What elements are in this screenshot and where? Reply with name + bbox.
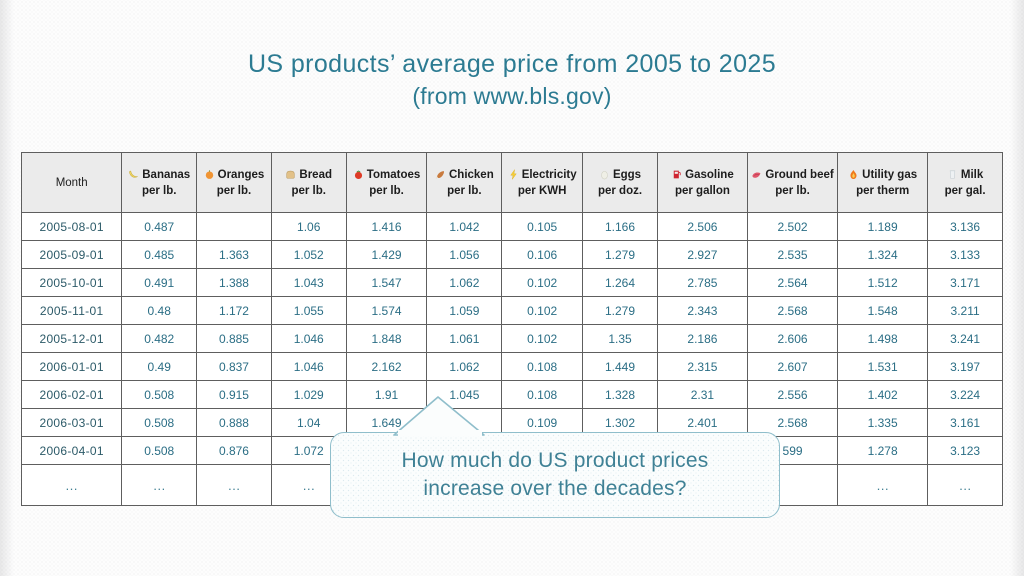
cell-value: 2.31 [657, 381, 747, 409]
cell-value: 2.785 [657, 269, 747, 297]
orange-icon [204, 169, 215, 184]
cell-value: 0.106 [502, 241, 583, 269]
cell-value: 3.136 [928, 213, 1003, 241]
column-header-utility-gas: Utility gasper therm [838, 153, 928, 213]
cell-month: 2006-01-01 [22, 353, 122, 381]
table-row: 2005-11-010.481.1721.0551.5741.0590.1021… [22, 297, 1003, 325]
cell-value: 1.363 [197, 241, 272, 269]
cell-value: 2.535 [747, 241, 837, 269]
cell-value: 3.123 [928, 437, 1003, 465]
column-header-title: Oranges [204, 169, 265, 181]
cell-value: 1.416 [346, 213, 427, 241]
cell-value: 1.029 [271, 381, 346, 409]
column-header-title: Ground beef [751, 169, 833, 181]
cell-value: 1.059 [427, 297, 502, 325]
cell-value: 0.48 [122, 297, 197, 325]
column-header-label: Bananas [142, 169, 190, 181]
title-line-1: US products’ average price from 2005 to … [0, 48, 1024, 80]
column-header-unit: per lb. [125, 184, 193, 198]
gas-pump-icon [671, 169, 682, 184]
callout-line-2: increase over the decades? [423, 477, 686, 500]
cell-value: 0.876 [197, 437, 272, 465]
cell-value: 2.606 [747, 325, 837, 353]
column-header-label: Tomatoes [367, 169, 420, 181]
column-header-unit: per lb. [200, 184, 268, 198]
column-header-title: Chicken [435, 169, 494, 181]
cell-value: 1.848 [346, 325, 427, 353]
table-row: 2005-12-010.4820.8851.0461.8481.0610.102… [22, 325, 1003, 353]
cell-value: 1.055 [271, 297, 346, 325]
column-header-unit: per therm [841, 184, 924, 198]
cell-value: 1.046 [271, 325, 346, 353]
column-header-eggs: Eggsper doz. [583, 153, 658, 213]
cell-value: 0.491 [122, 269, 197, 297]
cell-value: 2.343 [657, 297, 747, 325]
table-header-row: MonthBananasper lb.Orangesper lb.Breadpe… [22, 153, 1003, 213]
column-header-title: Utility gas [848, 169, 917, 181]
cell-value: 1.449 [583, 353, 658, 381]
column-header-bananas: Bananasper lb. [122, 153, 197, 213]
callout-text: How much do US product prices increase o… [402, 447, 709, 503]
callout-line-1: How much do US product prices [402, 449, 709, 472]
column-header-label: Month [56, 177, 88, 189]
cell-value: 2.564 [747, 269, 837, 297]
cell-value: 1.335 [838, 409, 928, 437]
column-header-title: Bananas [128, 169, 190, 181]
column-header-title: Gasoline [671, 169, 734, 181]
ground-beef-icon [751, 169, 762, 184]
column-header-label: Utility gas [862, 169, 917, 181]
cell-value: 0.102 [502, 325, 583, 353]
cell-value: 0.102 [502, 269, 583, 297]
cell-value: 0.508 [122, 381, 197, 409]
callout-bubble: How much do US product prices increase o… [330, 432, 780, 518]
cell-value: 3.197 [928, 353, 1003, 381]
cell-value: 2.315 [657, 353, 747, 381]
cell-value: 1.547 [346, 269, 427, 297]
cell-value: 3.224 [928, 381, 1003, 409]
cell-value: 1.189 [838, 213, 928, 241]
cell-value: 1.043 [271, 269, 346, 297]
bread-icon [285, 169, 296, 184]
cell-value: 2.568 [747, 297, 837, 325]
table-row: 2005-08-010.4871.061.4161.0420.1051.1662… [22, 213, 1003, 241]
column-header-unit: per KWH [505, 184, 579, 198]
cell-value: 1.046 [271, 353, 346, 381]
cell-value: 0.508 [122, 437, 197, 465]
cell-value: 3.133 [928, 241, 1003, 269]
column-header-label: Milk [961, 169, 983, 181]
column-header-unit: per lb. [350, 184, 424, 198]
cell-value: 2.506 [657, 213, 747, 241]
cell-value: 1.04 [271, 409, 346, 437]
cell-value: 1.06 [271, 213, 346, 241]
cell-month: 2005-08-01 [22, 213, 122, 241]
column-header-label: Oranges [218, 169, 265, 181]
milk-glass-icon [947, 169, 958, 184]
column-header-label: Bread [299, 169, 332, 181]
column-header-ground-beef: Ground beefper lb. [747, 153, 837, 213]
cell-value: … [122, 465, 197, 506]
cell-value: 0.485 [122, 241, 197, 269]
cell-month: 2006-02-01 [22, 381, 122, 409]
cell-value: 1.324 [838, 241, 928, 269]
column-header-label: Ground beef [765, 169, 833, 181]
cell-value: 1.574 [346, 297, 427, 325]
column-header-electricity: Electricityper KWH [502, 153, 583, 213]
cell-value: 1.166 [583, 213, 658, 241]
cell-value: 2.556 [747, 381, 837, 409]
slide-title: US products’ average price from 2005 to … [0, 48, 1024, 112]
column-header-unit: per lb. [430, 184, 498, 198]
cell-value: 2.186 [657, 325, 747, 353]
column-header-label: Electricity [522, 169, 577, 181]
cell-value: 0.508 [122, 409, 197, 437]
cell-value: 1.548 [838, 297, 928, 325]
cell-value: 1.172 [197, 297, 272, 325]
lightning-icon [508, 169, 519, 184]
cell-value: 1.328 [583, 381, 658, 409]
column-header-label: Eggs [613, 169, 641, 181]
banana-icon [128, 169, 139, 184]
cell-value: 1.062 [427, 353, 502, 381]
cell-value: 0.105 [502, 213, 583, 241]
cell-value: 1.052 [271, 241, 346, 269]
column-header-title: Electricity [508, 169, 577, 181]
cell-month: 2006-04-01 [22, 437, 122, 465]
cell-month: 2005-09-01 [22, 241, 122, 269]
cell-value: 1.279 [583, 241, 658, 269]
cell-value: 0.49 [122, 353, 197, 381]
cell-month: 2005-10-01 [22, 269, 122, 297]
cell-value: 0.482 [122, 325, 197, 353]
cell-value: 0.837 [197, 353, 272, 381]
column-header-label: Chicken [449, 169, 494, 181]
column-header-unit: per gal. [931, 184, 999, 198]
cell-value: 1.062 [427, 269, 502, 297]
column-header-unit: per lb. [751, 184, 834, 198]
table-row: 2006-02-010.5080.9151.0291.911.0450.1081… [22, 381, 1003, 409]
cell-value: 3.211 [928, 297, 1003, 325]
cell-value: 1.429 [346, 241, 427, 269]
cell-value: 1.264 [583, 269, 658, 297]
table-row: 2006-01-010.490.8371.0462.1621.0620.1081… [22, 353, 1003, 381]
chicken-icon [435, 169, 446, 184]
cell-value: … [838, 465, 928, 506]
cell-value: 0.108 [502, 381, 583, 409]
cell-value: 0.885 [197, 325, 272, 353]
cell-value: 2.502 [747, 213, 837, 241]
cell-month: 2005-11-01 [22, 297, 122, 325]
cell-value: 2.607 [747, 353, 837, 381]
column-header-title: Milk [947, 169, 983, 181]
tomato-icon [353, 169, 364, 184]
cell-value: 1.056 [427, 241, 502, 269]
column-header-label: Gasoline [685, 169, 734, 181]
column-header-oranges: Orangesper lb. [197, 153, 272, 213]
column-header-tomatoes: Tomatoesper lb. [346, 153, 427, 213]
cell-value: 0.888 [197, 409, 272, 437]
title-line-2: (from www.bls.gov) [0, 80, 1024, 112]
table-row: 2005-10-010.4911.3881.0431.5471.0620.102… [22, 269, 1003, 297]
cell-value: 1.402 [838, 381, 928, 409]
egg-icon [599, 169, 610, 184]
column-header-bread: Breadper lb. [271, 153, 346, 213]
column-header-milk: Milkper gal. [928, 153, 1003, 213]
cell-value: 1.498 [838, 325, 928, 353]
flame-icon [848, 169, 859, 184]
cell-value: 0.487 [122, 213, 197, 241]
cell-value: 3.171 [928, 269, 1003, 297]
cell-value: 0.102 [502, 297, 583, 325]
cell-value: 2.927 [657, 241, 747, 269]
column-header-unit: per lb. [275, 184, 343, 198]
column-header-title: Bread [285, 169, 332, 181]
cell-month: 2006-03-01 [22, 409, 122, 437]
column-header-unit: per gallon [661, 184, 744, 198]
cell-month: 2005-12-01 [22, 325, 122, 353]
cell-value: 0.108 [502, 353, 583, 381]
cell-value: 1.279 [583, 297, 658, 325]
callout-tail [392, 394, 488, 436]
column-header-gasoline: Gasolineper gallon [657, 153, 747, 213]
cell-month: … [22, 465, 122, 506]
cell-value: 0.915 [197, 381, 272, 409]
cell-value: 1.388 [197, 269, 272, 297]
cell-value: 1.278 [838, 437, 928, 465]
cell-value [197, 213, 272, 241]
cell-value: 1.35 [583, 325, 658, 353]
column-header-chicken: Chickenper lb. [427, 153, 502, 213]
table-row: 2005-09-010.4851.3631.0521.4291.0560.106… [22, 241, 1003, 269]
cell-value: 1.042 [427, 213, 502, 241]
cell-value: … [928, 465, 1003, 506]
cell-value: 1.512 [838, 269, 928, 297]
cell-value: 2.162 [346, 353, 427, 381]
column-header-title: Eggs [599, 169, 641, 181]
cell-value: 1.531 [838, 353, 928, 381]
cell-value: 3.241 [928, 325, 1003, 353]
cell-value: 3.161 [928, 409, 1003, 437]
cell-value: … [197, 465, 272, 506]
column-header-month: Month [22, 153, 122, 213]
column-header-unit: per doz. [586, 184, 654, 198]
column-header-title: Tomatoes [353, 169, 420, 181]
cell-value: 1.061 [427, 325, 502, 353]
